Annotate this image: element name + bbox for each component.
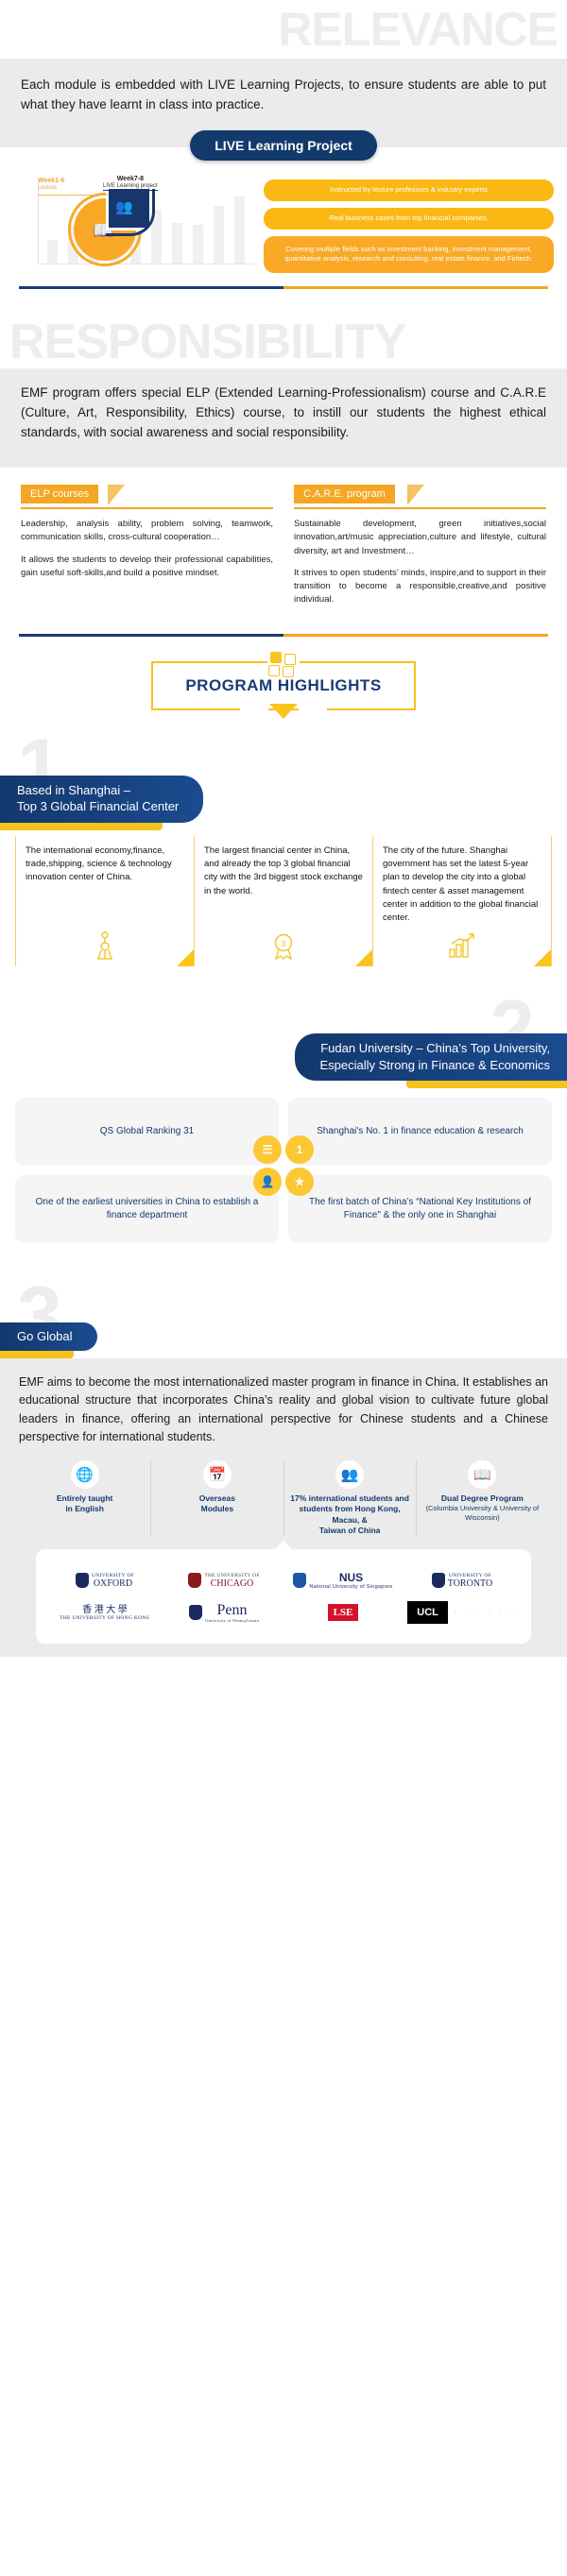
feature-subtitle: (Columbia University & University of Wis… xyxy=(421,1504,544,1523)
partner-logo: LSE xyxy=(283,1596,403,1629)
responsibility-intro-text: EMF program offers special ELP (Extended… xyxy=(21,384,546,443)
highlight2-quad: QS Global Ranking 31 Shanghai's No. 1 in… xyxy=(0,1088,567,1243)
partner-logo: PennUniversity of Pennsylvania xyxy=(164,1596,283,1629)
elp-tab-rule xyxy=(21,507,273,509)
people-icon: 👥 xyxy=(115,198,133,215)
partner-name: UNIVERSITY OFTORONTO xyxy=(448,1573,492,1589)
partner-name: UNIVERSITY OFOXFORD xyxy=(92,1573,134,1589)
open-book-icon: 📖 xyxy=(468,1460,496,1489)
relevance-chart: 📖 👥 Week1-6 Lecture Week7-8 LIVE Learnin… xyxy=(13,176,264,270)
week1-label: Week1-6 Lecture xyxy=(38,178,64,193)
go-global-features: 🌐 Entirely taught in English 📅 Overseas … xyxy=(19,1447,548,1537)
relevance-intro-text: Each module is embedded with LIVE Learni… xyxy=(21,76,546,115)
section-highlight-3: 3 Go Global EMF aims to become the most … xyxy=(0,1253,567,1657)
chart-bar xyxy=(214,206,224,264)
column-elp: ELP courses Leadership, analysis ability… xyxy=(21,485,273,607)
feature-item: 📖 Dual Degree Program (Columbia Universi… xyxy=(417,1460,548,1537)
care-tab-rule xyxy=(294,507,546,509)
feature-title: Overseas Modules xyxy=(155,1493,279,1515)
four-squares-icon xyxy=(267,652,300,676)
calendar-a-icon: 📅 xyxy=(203,1460,232,1489)
partner-logos-card: UNIVERSITY OFOXFORD THE UNIVERSITY OFCHI… xyxy=(36,1549,531,1644)
partner-name: PennUniversity of Pennsylvania xyxy=(205,1602,259,1624)
highlight1-card: The largest financial center in China, a… xyxy=(195,836,373,926)
care-paragraph-1: Sustainable development, green initiativ… xyxy=(294,518,546,558)
section-responsibility: RESPONSIBILITY EMF program offers specia… xyxy=(0,289,567,636)
oxford-crest-icon xyxy=(76,1573,89,1588)
highlight1-card: The international economy,finance, trade… xyxy=(15,836,195,926)
highlight1-banner: Based in Shanghai – Top 3 Global Financi… xyxy=(0,776,203,823)
partner-logo-grid: UNIVERSITY OFOXFORD THE UNIVERSITY OFCHI… xyxy=(45,1564,522,1629)
svg-text:3: 3 xyxy=(281,939,285,948)
highlight2-banner-line1: Fudan University – China’s Top Universit… xyxy=(319,1040,550,1057)
partner-logo: 香 港 大 學 THE UNIVERSITY OF HONG KONG xyxy=(45,1596,164,1629)
elp-paragraph-2: It allows the students to develop their … xyxy=(21,554,273,581)
divider-blue xyxy=(19,286,283,289)
highlight1-card-text: The city of the future. Shanghai governm… xyxy=(383,844,541,926)
section-highlight-1: 1 Based in Shanghai – Top 3 Global Finan… xyxy=(0,716,567,967)
divider-orange xyxy=(283,286,548,289)
responsibility-columns: ELP courses Leadership, analysis ability… xyxy=(0,468,567,613)
relevance-bullet: Real business cases from top financial c… xyxy=(264,208,554,230)
partner-logo: NUSNational University of Singapore xyxy=(283,1564,403,1596)
partner-logo: UNIVERSITY OFTORONTO xyxy=(403,1564,522,1596)
live-learning-project-pill[interactable]: LIVE Learning Project xyxy=(190,130,376,161)
quad-center-icons: ☰ 1 👤 ★ xyxy=(253,1135,314,1196)
program-highlights-title: PROGRAM HIGHLIGHTS xyxy=(185,676,381,694)
program-highlights-box: PROGRAM HIGHLIGHTS xyxy=(151,661,415,710)
partner-name: UCL xyxy=(407,1601,448,1624)
week2-label: Week7-8 LIVE Learning project xyxy=(103,176,158,191)
partner-name: LSE xyxy=(328,1604,359,1621)
growth-chart-icon xyxy=(448,932,476,959)
quad-cell: The first batch of China’s “National Key… xyxy=(288,1175,552,1243)
highlight1-banner-line2: Top 3 Global Financial Center xyxy=(17,798,179,815)
corner-triangle-icon xyxy=(355,949,372,966)
nus-crest-icon xyxy=(293,1573,306,1588)
corner-triangle-icon xyxy=(177,949,194,966)
relevance-diagram: 📖 👥 Week1-6 Lecture Week7-8 LIVE Learnin… xyxy=(0,161,567,278)
feature-item: 📅 Overseas Modules xyxy=(151,1460,283,1537)
highlight2-banner-underlay xyxy=(406,1081,567,1088)
ranking-list-icon: ☰ xyxy=(253,1135,282,1164)
relevance-bullet: Covering multiple fields such as investm… xyxy=(264,236,554,274)
partner-name: 香 港 大 學 THE UNIVERSITY OF HONG KONG xyxy=(60,1605,150,1621)
highlight2-banner-wrap: Fudan University – China’s Top Universit… xyxy=(0,1033,567,1088)
penn-crest-icon xyxy=(189,1605,202,1620)
column-care: C.A.R.E. program Sustainable development… xyxy=(294,485,546,607)
highlight3-banner-wrap: Go Global xyxy=(0,1322,567,1359)
feature-title: 17% international students and students … xyxy=(288,1493,412,1537)
care-tab-label: C.A.R.E. program xyxy=(294,485,395,503)
responsibility-ghost-title-wrap: RESPONSIBILITY xyxy=(0,317,567,368)
finance-person-icon: 👤 xyxy=(253,1168,282,1196)
highlight1-card: The city of the future. Shanghai governm… xyxy=(373,836,552,926)
highlight1-banner-wrap: Based in Shanghai – Top 3 Global Financi… xyxy=(0,776,567,830)
care-paragraph-2: It strives to open students’ minds, insp… xyxy=(294,567,546,607)
relevance-ghost-title-wrap: RELEVANCE xyxy=(0,6,567,59)
feature-title: Entirely taught in English xyxy=(23,1493,146,1515)
highlight1-icon-cell xyxy=(373,925,552,966)
partner-name: THE UNIVERSITY OFCHICAGO xyxy=(204,1573,259,1589)
more-partners-dots: · · · · · · xyxy=(454,1608,517,1618)
tab-wedge-icon xyxy=(407,485,424,505)
highlight1-banner-line1: Based in Shanghai – xyxy=(17,782,179,799)
quad-cell: One of the earliest universities in Chin… xyxy=(15,1175,279,1243)
partner-logo: THE UNIVERSITY OFCHICAGO xyxy=(164,1564,283,1596)
chart-bar xyxy=(234,196,245,264)
go-global-intro: EMF aims to become the most internationa… xyxy=(19,1373,548,1447)
chart-bar xyxy=(47,240,58,264)
relevance-bullets: Instructed by lecture professors & indus… xyxy=(264,176,554,274)
chart-bar xyxy=(193,225,203,264)
highlight1-banner-underlay xyxy=(0,823,163,830)
box-gap-left xyxy=(240,707,268,710)
feature-item: 🌐 Entirely taught in English xyxy=(19,1460,151,1537)
highlight2-banner-line2: Especially Strong in Finance & Economics xyxy=(319,1057,550,1074)
divider-rule xyxy=(19,286,548,289)
highlight3-banner: Go Global xyxy=(0,1322,97,1352)
relevance-ghost-title: RELEVANCE xyxy=(278,3,558,56)
chicago-crest-icon xyxy=(188,1573,201,1588)
program-highlights-header: PROGRAM HIGHLIGHTS xyxy=(0,637,567,716)
highlight2-banner: Fudan University – China’s Top Universit… xyxy=(295,1033,567,1081)
go-global-band: EMF aims to become the most internationa… xyxy=(0,1358,567,1657)
feature-item: 👥 17% international students and student… xyxy=(284,1460,417,1537)
week2-underline xyxy=(103,190,158,192)
section-highlight-2: 2 Fudan University – China’s Top Univers… xyxy=(0,966,567,1243)
infographic-page: RELEVANCE Each module is embedded with L… xyxy=(0,0,567,1657)
corner-triangle-icon xyxy=(534,949,551,966)
live-pill-wrap: LIVE Learning Project xyxy=(0,130,567,161)
number-one-medal-icon: 1 xyxy=(285,1135,314,1164)
quad-cell: Shanghai's No. 1 in finance education & … xyxy=(288,1098,552,1166)
highlight1-icon-cell: 3 xyxy=(195,925,373,966)
elp-tab-label: ELP courses xyxy=(21,485,98,503)
chart-bar xyxy=(172,223,182,264)
box-gap-right xyxy=(299,707,327,710)
highlight1-card-text: The international economy,finance, trade… xyxy=(26,844,184,885)
pearl-tower-icon xyxy=(94,931,115,960)
responsibility-ghost-title: RESPONSIBILITY xyxy=(9,315,405,369)
ribbon-badge-3-icon: 3 xyxy=(270,931,297,960)
partner-logo: UNIVERSITY OFOXFORD xyxy=(45,1564,164,1596)
partner-logo: UCL · · · · · · xyxy=(403,1596,522,1629)
partner-name: NUSNational University of Singapore xyxy=(309,1572,392,1590)
highlight1-icon-row: 3 xyxy=(0,925,567,966)
chart-x-axis xyxy=(38,264,254,264)
responsibility-intro-band: EMF program offers special ELP (Extended… xyxy=(0,368,567,468)
feature-title: Dual Degree Program xyxy=(421,1493,544,1504)
group-people-icon: 👥 xyxy=(335,1460,364,1489)
care-tab-head: C.A.R.E. program xyxy=(294,485,546,505)
elp-tab-head: ELP courses xyxy=(21,485,273,505)
toronto-crest-icon xyxy=(432,1573,445,1588)
highlight1-card-text: The largest financial center in China, a… xyxy=(204,844,363,898)
tab-wedge-icon xyxy=(108,485,125,505)
highlight1-icon-cell xyxy=(15,925,195,966)
award-ribbon-icon: ★ xyxy=(285,1168,314,1196)
down-arrow-icon xyxy=(269,704,298,719)
globe-icon: 🌐 xyxy=(71,1460,99,1489)
week1-underline xyxy=(38,195,108,196)
section-relevance: RELEVANCE Each module is embedded with L… xyxy=(0,0,567,289)
relevance-bullet: Instructed by lecture professors & indus… xyxy=(264,179,554,201)
highlight1-cards: The international economy,finance, trade… xyxy=(0,830,567,926)
quad-cell: QS Global Ranking 31 xyxy=(15,1098,279,1166)
elp-paragraph-1: Leadership, analysis ability, problem so… xyxy=(21,518,273,545)
